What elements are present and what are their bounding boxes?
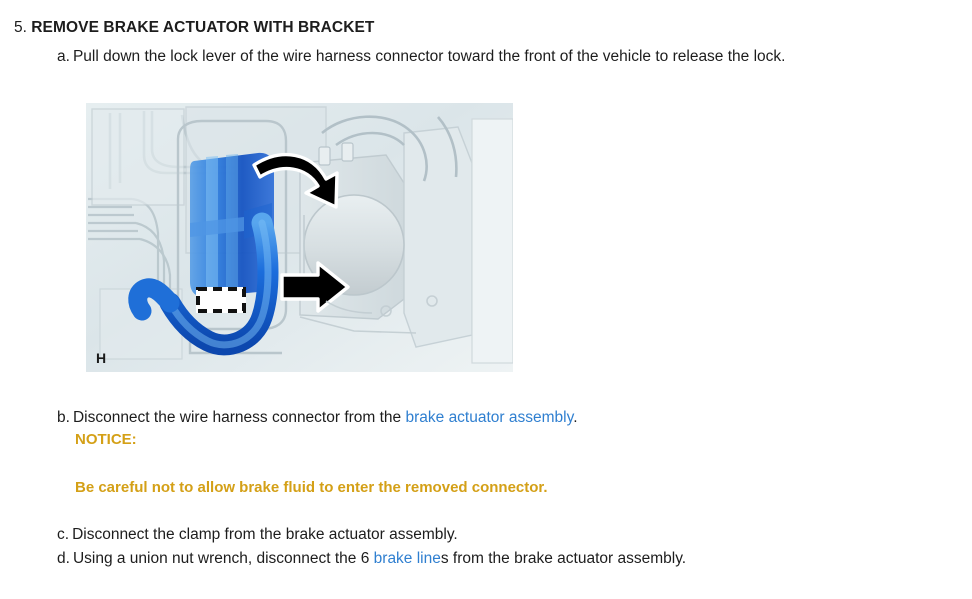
substep-a-text: Pull down the lock lever of the wire har… xyxy=(73,48,786,65)
figure-letter-label: H xyxy=(96,350,106,366)
substep-b-text-lead: Disconnect the wire harness connector fr… xyxy=(73,409,406,426)
step-title: REMOVE BRAKE ACTUATOR WITH BRACKET xyxy=(31,19,374,36)
substep-a: a.Pull down the lock lever of the wire h… xyxy=(57,46,785,67)
substep-c-text: Disconnect the clamp from the brake actu… xyxy=(72,526,458,543)
illustration-svg xyxy=(86,103,513,372)
substep-c-marker: c. xyxy=(57,526,69,543)
brake-actuator-illustration: H xyxy=(86,103,513,372)
substep-d: d.Using a union nut wrench, disconnect t… xyxy=(57,548,686,569)
substep-b-marker: b. xyxy=(57,409,70,426)
substep-c: c.Disconnect the clamp from the brake ac… xyxy=(57,524,458,545)
dashed-marker-icon xyxy=(196,287,246,313)
substep-b: b.Disconnect the wire harness connector … xyxy=(57,407,578,428)
document-page: 5. REMOVE BRAKE ACTUATOR WITH BRACKET a.… xyxy=(0,0,972,599)
substep-d-marker: d. xyxy=(57,550,70,567)
substep-d-text-lead: Using a union nut wrench, disconnect the… xyxy=(73,550,374,567)
notice-body: Be careful not to allow brake fluid to e… xyxy=(75,479,548,496)
step-number: 5. xyxy=(14,19,27,36)
substep-b-text-tail: . xyxy=(573,409,577,426)
link-brake-actuator-assembly[interactable]: brake actuator assembly xyxy=(405,409,573,426)
notice-label: NOTICE: xyxy=(75,431,137,448)
substep-a-marker: a. xyxy=(57,48,70,65)
step-heading: 5. REMOVE BRAKE ACTUATOR WITH BRACKET xyxy=(14,18,375,38)
substep-d-text-tail: s from the brake actuator assembly. xyxy=(441,550,686,567)
link-brake-line[interactable]: brake line xyxy=(374,550,441,567)
